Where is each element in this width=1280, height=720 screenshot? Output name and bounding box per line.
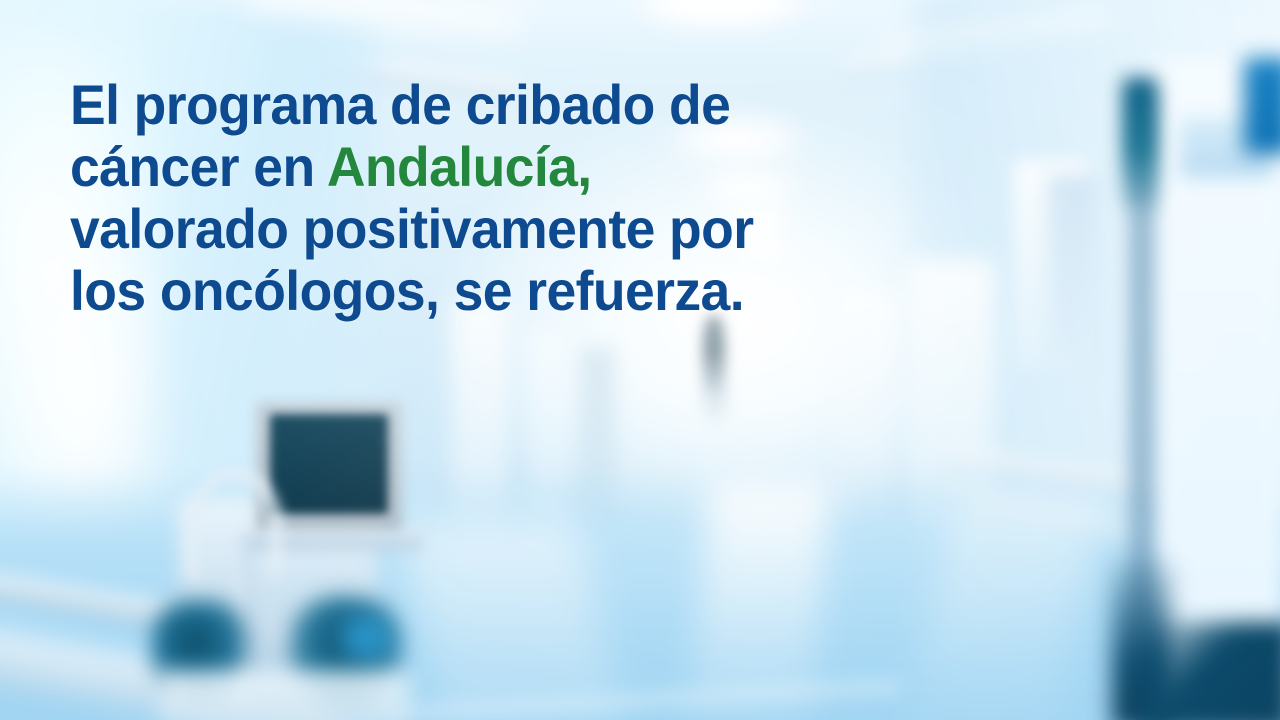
monitor-screen — [270, 414, 388, 514]
floor-reflection-center — [689, 480, 831, 720]
headline-line-1: El programa de cribado de — [70, 74, 949, 136]
headline-line-4: los oncólogos, se refuerza. — [70, 260, 949, 322]
headline-line-3: valorado positivamente por — [70, 198, 949, 260]
cart-equipment-accent — [336, 612, 394, 664]
right-wall-plate-inner — [1048, 175, 1094, 365]
right-corner-teal — [1142, 622, 1280, 720]
headline: El programa de cribado de cáncer en Anda… — [70, 74, 949, 322]
headline-highlight-andalucia: Andalucía, — [327, 135, 592, 198]
right-wall-sign — [1244, 58, 1280, 154]
headline-line-2: cáncer en Andalucía, — [70, 136, 949, 198]
headline-line-2-text: cáncer en — [70, 135, 327, 198]
walking-figure — [703, 316, 725, 392]
banner-stage: El programa de cribado de cáncer en Anda… — [0, 0, 1280, 720]
walking-figure-shadow — [698, 386, 732, 426]
medical-cart-handle — [186, 468, 282, 586]
medical-cart-lower — [160, 672, 410, 720]
right-door-teal-accent — [1123, 78, 1157, 208]
